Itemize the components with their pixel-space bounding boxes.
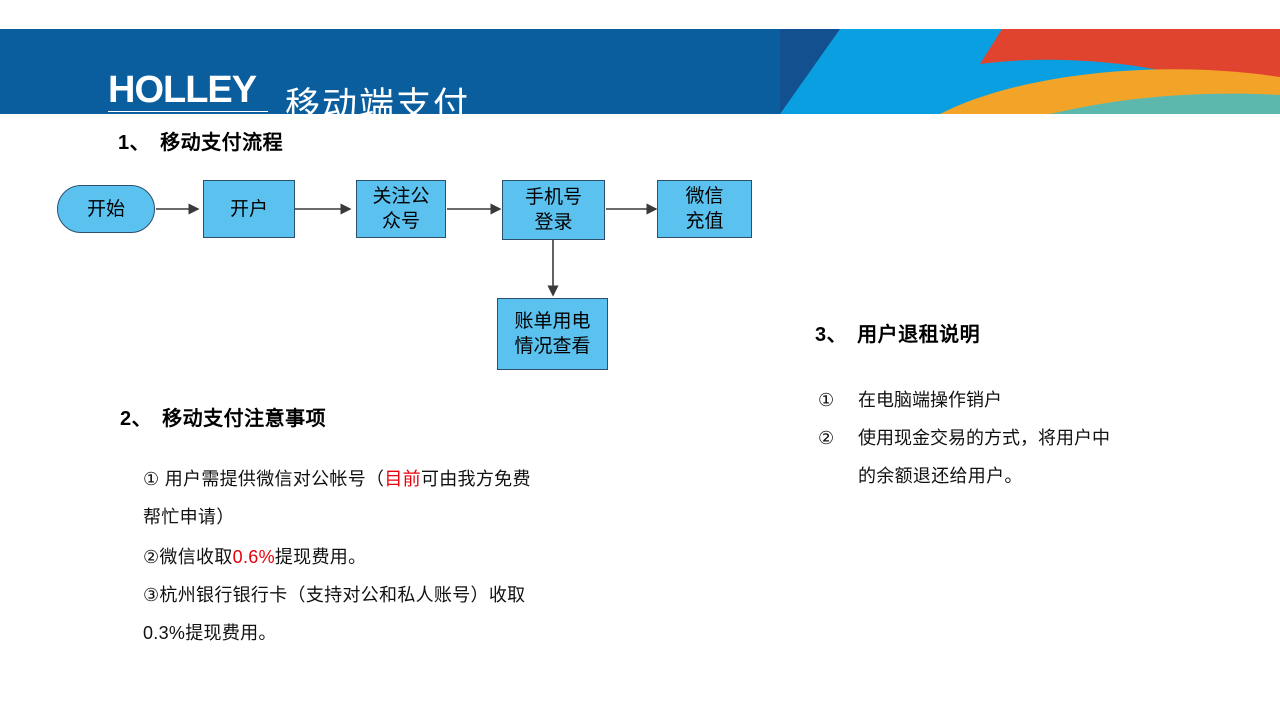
section-2-item-3-line-1: ③杭州银行银行卡（支持对公和私人账号）收取 [143, 581, 525, 607]
section-3-number: 3、 [815, 324, 847, 346]
flow-node-phone-login[interactable]: 手机号 登录 [502, 180, 605, 240]
section-3-item-2-line-2: 的余额退还给用户。 [858, 462, 1023, 488]
section-3-item-1-text: 在电脑端操作销户 [858, 386, 1002, 412]
section-2-number: 2、 [120, 408, 152, 430]
section-2-title: 移动支付注意事项 [162, 408, 326, 430]
item-2-text-after: 提现费用。 [275, 547, 367, 567]
item-1-text-before: ① 用户需提供微信对公帐号（ [143, 469, 384, 489]
item-2-text-before: ②微信收取 [143, 547, 233, 567]
section-2-item-2: ②微信收取0.6%提现费用。 [143, 543, 366, 569]
flow-node-bill-usage-view[interactable]: 账单用电 情况查看 [497, 298, 608, 370]
section-1-number: 1、 [118, 132, 150, 154]
header-bar: HOLLEY TECH 华立科技 移动端支付 [0, 29, 1280, 114]
flow-node-follow-official-account[interactable]: 关注公 众号 [356, 180, 446, 238]
section-3-item-2-marker: ② [818, 428, 858, 449]
page-title: 移动端支付 [285, 77, 470, 114]
flow-node-start[interactable]: 开始 [57, 185, 155, 233]
item-2-highlight: 0.6% [233, 547, 275, 567]
flow-node-wechat-recharge[interactable]: 微信 充值 [657, 180, 752, 238]
section-3-heading: 3、用户退租说明 [815, 318, 980, 347]
section-2-item-3-line-2: 0.3%提现费用。 [143, 619, 277, 645]
section-3-item-1-marker: ① [818, 390, 858, 411]
logo-wordmark: HOLLEY [108, 71, 268, 109]
holley-logo: HOLLEY TECH 华立科技 [108, 71, 268, 114]
item-1-text-after: 可由我方免费 [421, 469, 531, 489]
section-2-heading: 2、移动支付注意事项 [120, 402, 326, 431]
header-decorative-swoosh [780, 29, 1280, 114]
item-1-highlight: 目前 [384, 469, 421, 489]
section-3-item-2: ②使用现金交易的方式，将用户中 [818, 424, 1110, 450]
section-2-item-1-line-1: ① 用户需提供微信对公帐号（目前可由我方免费 [143, 465, 531, 491]
section-1-title: 移动支付流程 [160, 132, 283, 154]
section-3-item-1: ①在电脑端操作销户 [818, 386, 1002, 412]
section-3-item-2-text: 使用现金交易的方式，将用户中 [858, 424, 1110, 450]
logo-tagline: TECH 华立科技 [108, 111, 268, 114]
section-3-title: 用户退租说明 [857, 324, 980, 346]
flow-node-open-account[interactable]: 开户 [203, 180, 295, 238]
section-2-item-1-line-2: 帮忙申请） [143, 503, 235, 529]
section-1-heading: 1、移动支付流程 [118, 126, 283, 155]
